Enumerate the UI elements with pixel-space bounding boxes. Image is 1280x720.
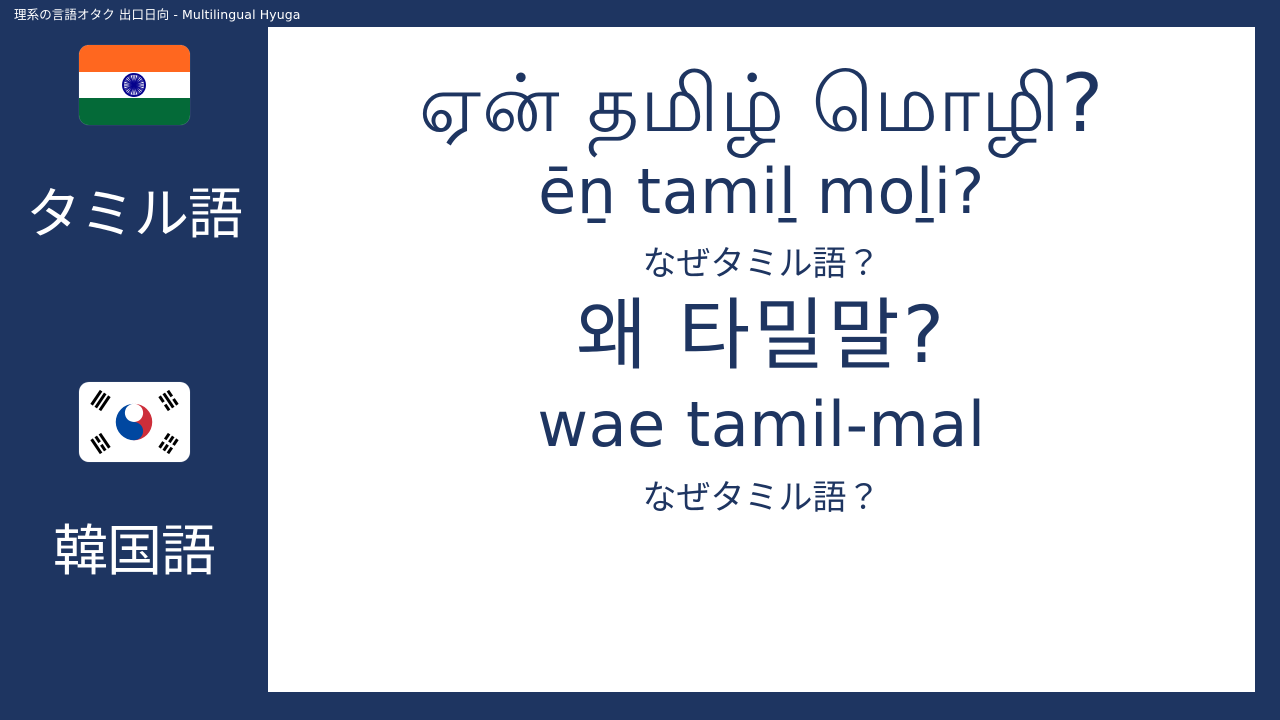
sidebar-item-korean[interactable]: 韓国語 (0, 382, 268, 579)
window-title: 理系の言語オタク 出口日向 - Multilingual Hyuga (14, 4, 301, 23)
flag-south-korea-icon (79, 382, 190, 462)
content-panel: ஏன் தமிழ் மொழி? ēṉ tamiḻ moḻi? なぜタミル語？ 왜… (268, 27, 1255, 692)
tamil-romanization-line: ēṉ tamiḻ moḻi? (268, 159, 1255, 224)
japanese-gloss-line-2: なぜタミル語？ (268, 480, 1255, 517)
japanese-gloss-line-1: なぜタミル語？ (268, 246, 1255, 283)
india-saffron-band (79, 45, 190, 72)
taeguk-symbol-icon (115, 403, 153, 441)
tamil-script-line: ஏன் தமிழ் மொழி? (268, 55, 1255, 153)
slide-root: 理系の言語オタク 出口日向 - Multilingual Hyuga (0, 0, 1280, 720)
ashoka-chakra-icon (122, 73, 146, 97)
sidebar-item-tamil[interactable]: タミル語 (0, 45, 268, 242)
language-sidebar: タミル語 韓国語 (0, 27, 268, 720)
korean-romanization-line: wae tamil-mal (268, 392, 1255, 457)
sidebar-item-label-tamil: タミル語 (26, 187, 242, 242)
trigram-geon-icon (90, 390, 110, 411)
korean-script-line: 왜 타밀말? (268, 293, 1255, 380)
india-green-band (79, 98, 190, 125)
flag-india-icon (79, 45, 190, 125)
trigram-gam-icon (158, 390, 178, 411)
trigram-ri-icon (90, 433, 110, 454)
window-titlebar: 理系の言語オタク 出口日向 - Multilingual Hyuga (0, 0, 1280, 27)
trigram-gon-icon (158, 433, 178, 454)
sidebar-item-label-korean: 韓国語 (53, 524, 215, 579)
